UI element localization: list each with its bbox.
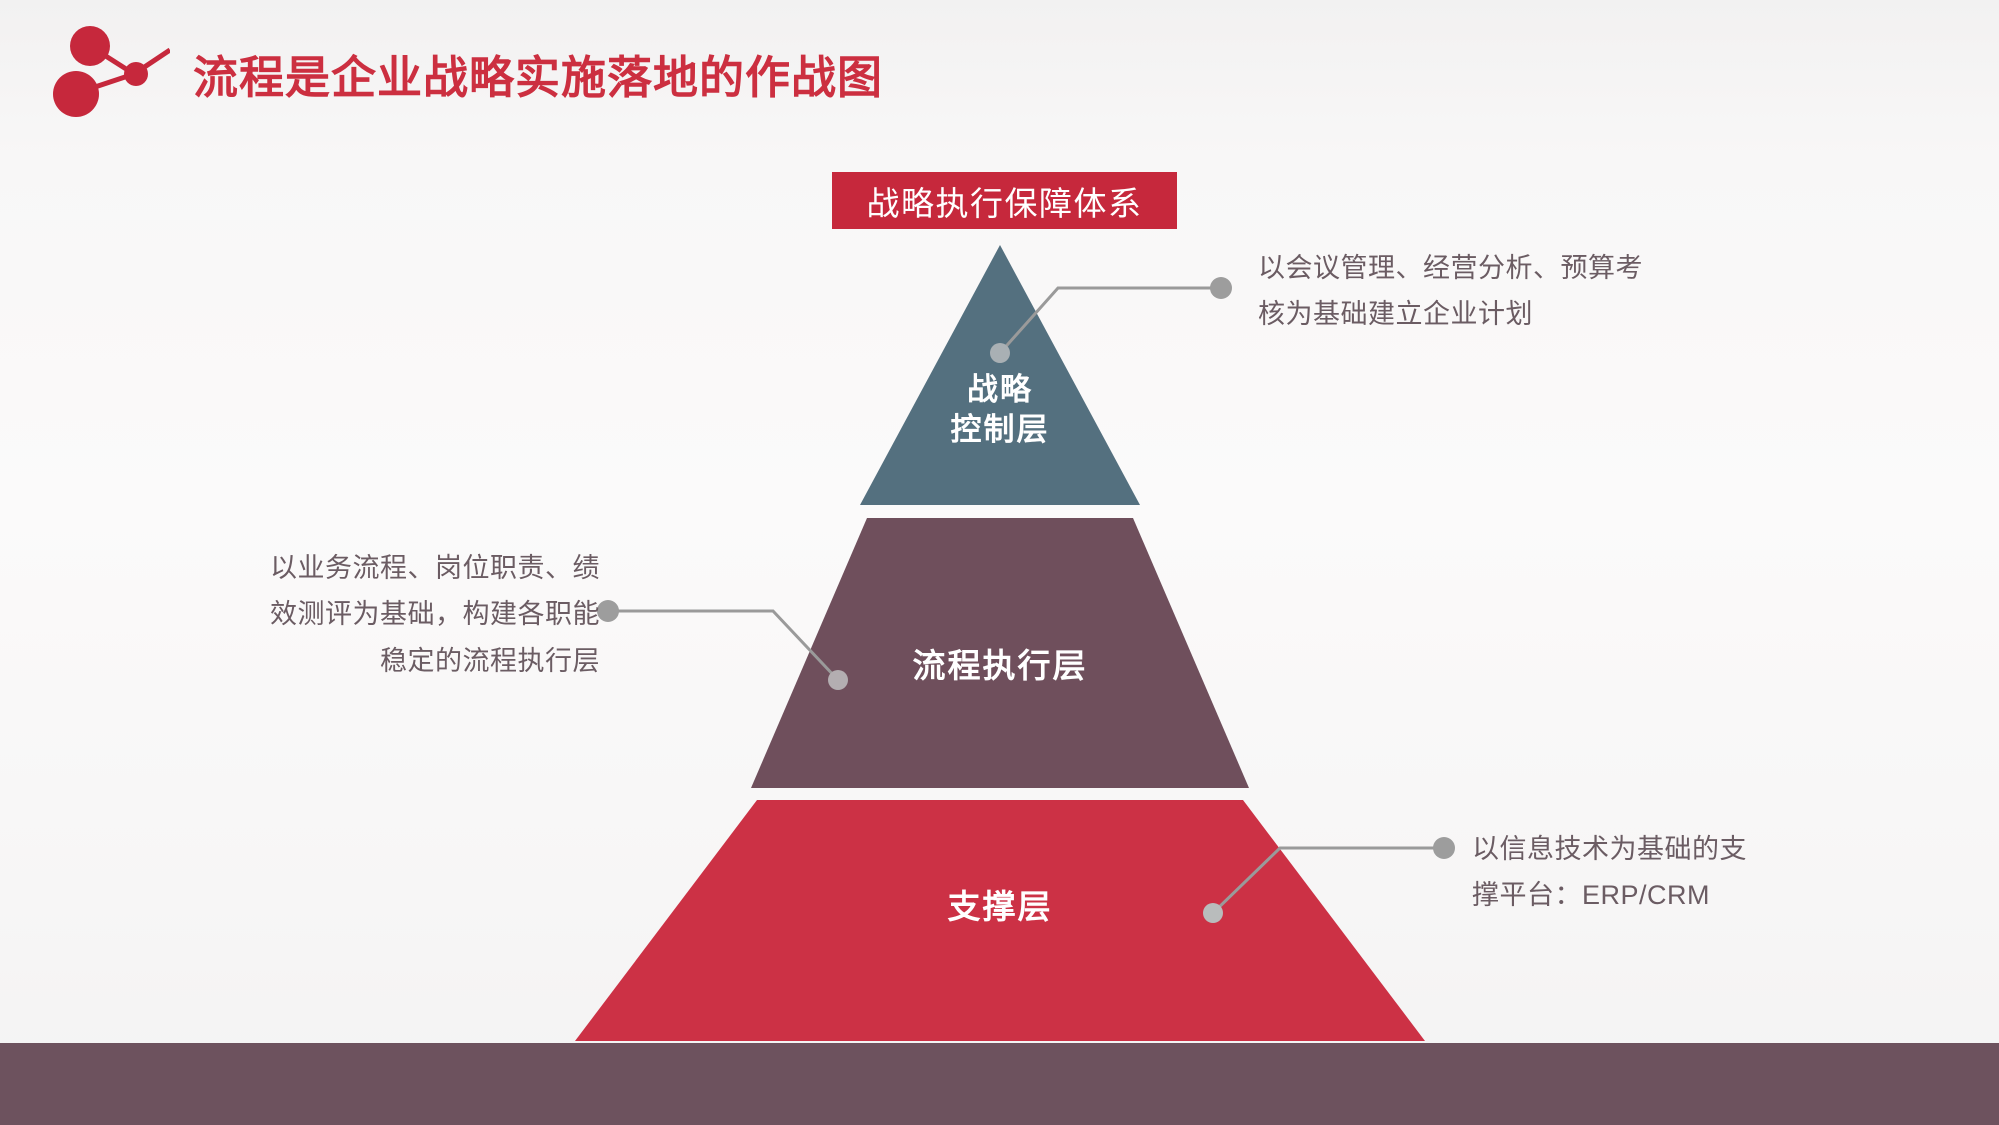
annotation-process-execution: 以业务流程、岗位职责、绩 效测评为基础，构建各职能 稳定的流程执行层 [200,545,600,684]
pyramid-diagram: 战略执行保障体系 战略 控制层 流程执行层 支撑层 以会议管理、经营分析、预算考… [0,0,1999,1125]
pyramid-layer-process-execution[interactable] [751,518,1249,788]
badge-strategy-assurance-system[interactable]: 战略执行保障体系 [832,172,1177,229]
footer-band [0,1043,1999,1125]
pyramid-layer-support[interactable] [575,800,1425,1041]
annotation-strategy-control: 以会议管理、经营分析、预算考 核为基础建立企业计划 [1258,245,1718,338]
annotation-support: 以信息技术为基础的支 撑平台：ERP/CRM [1472,826,1872,919]
pyramid-layer-strategy-control[interactable] [860,245,1140,505]
